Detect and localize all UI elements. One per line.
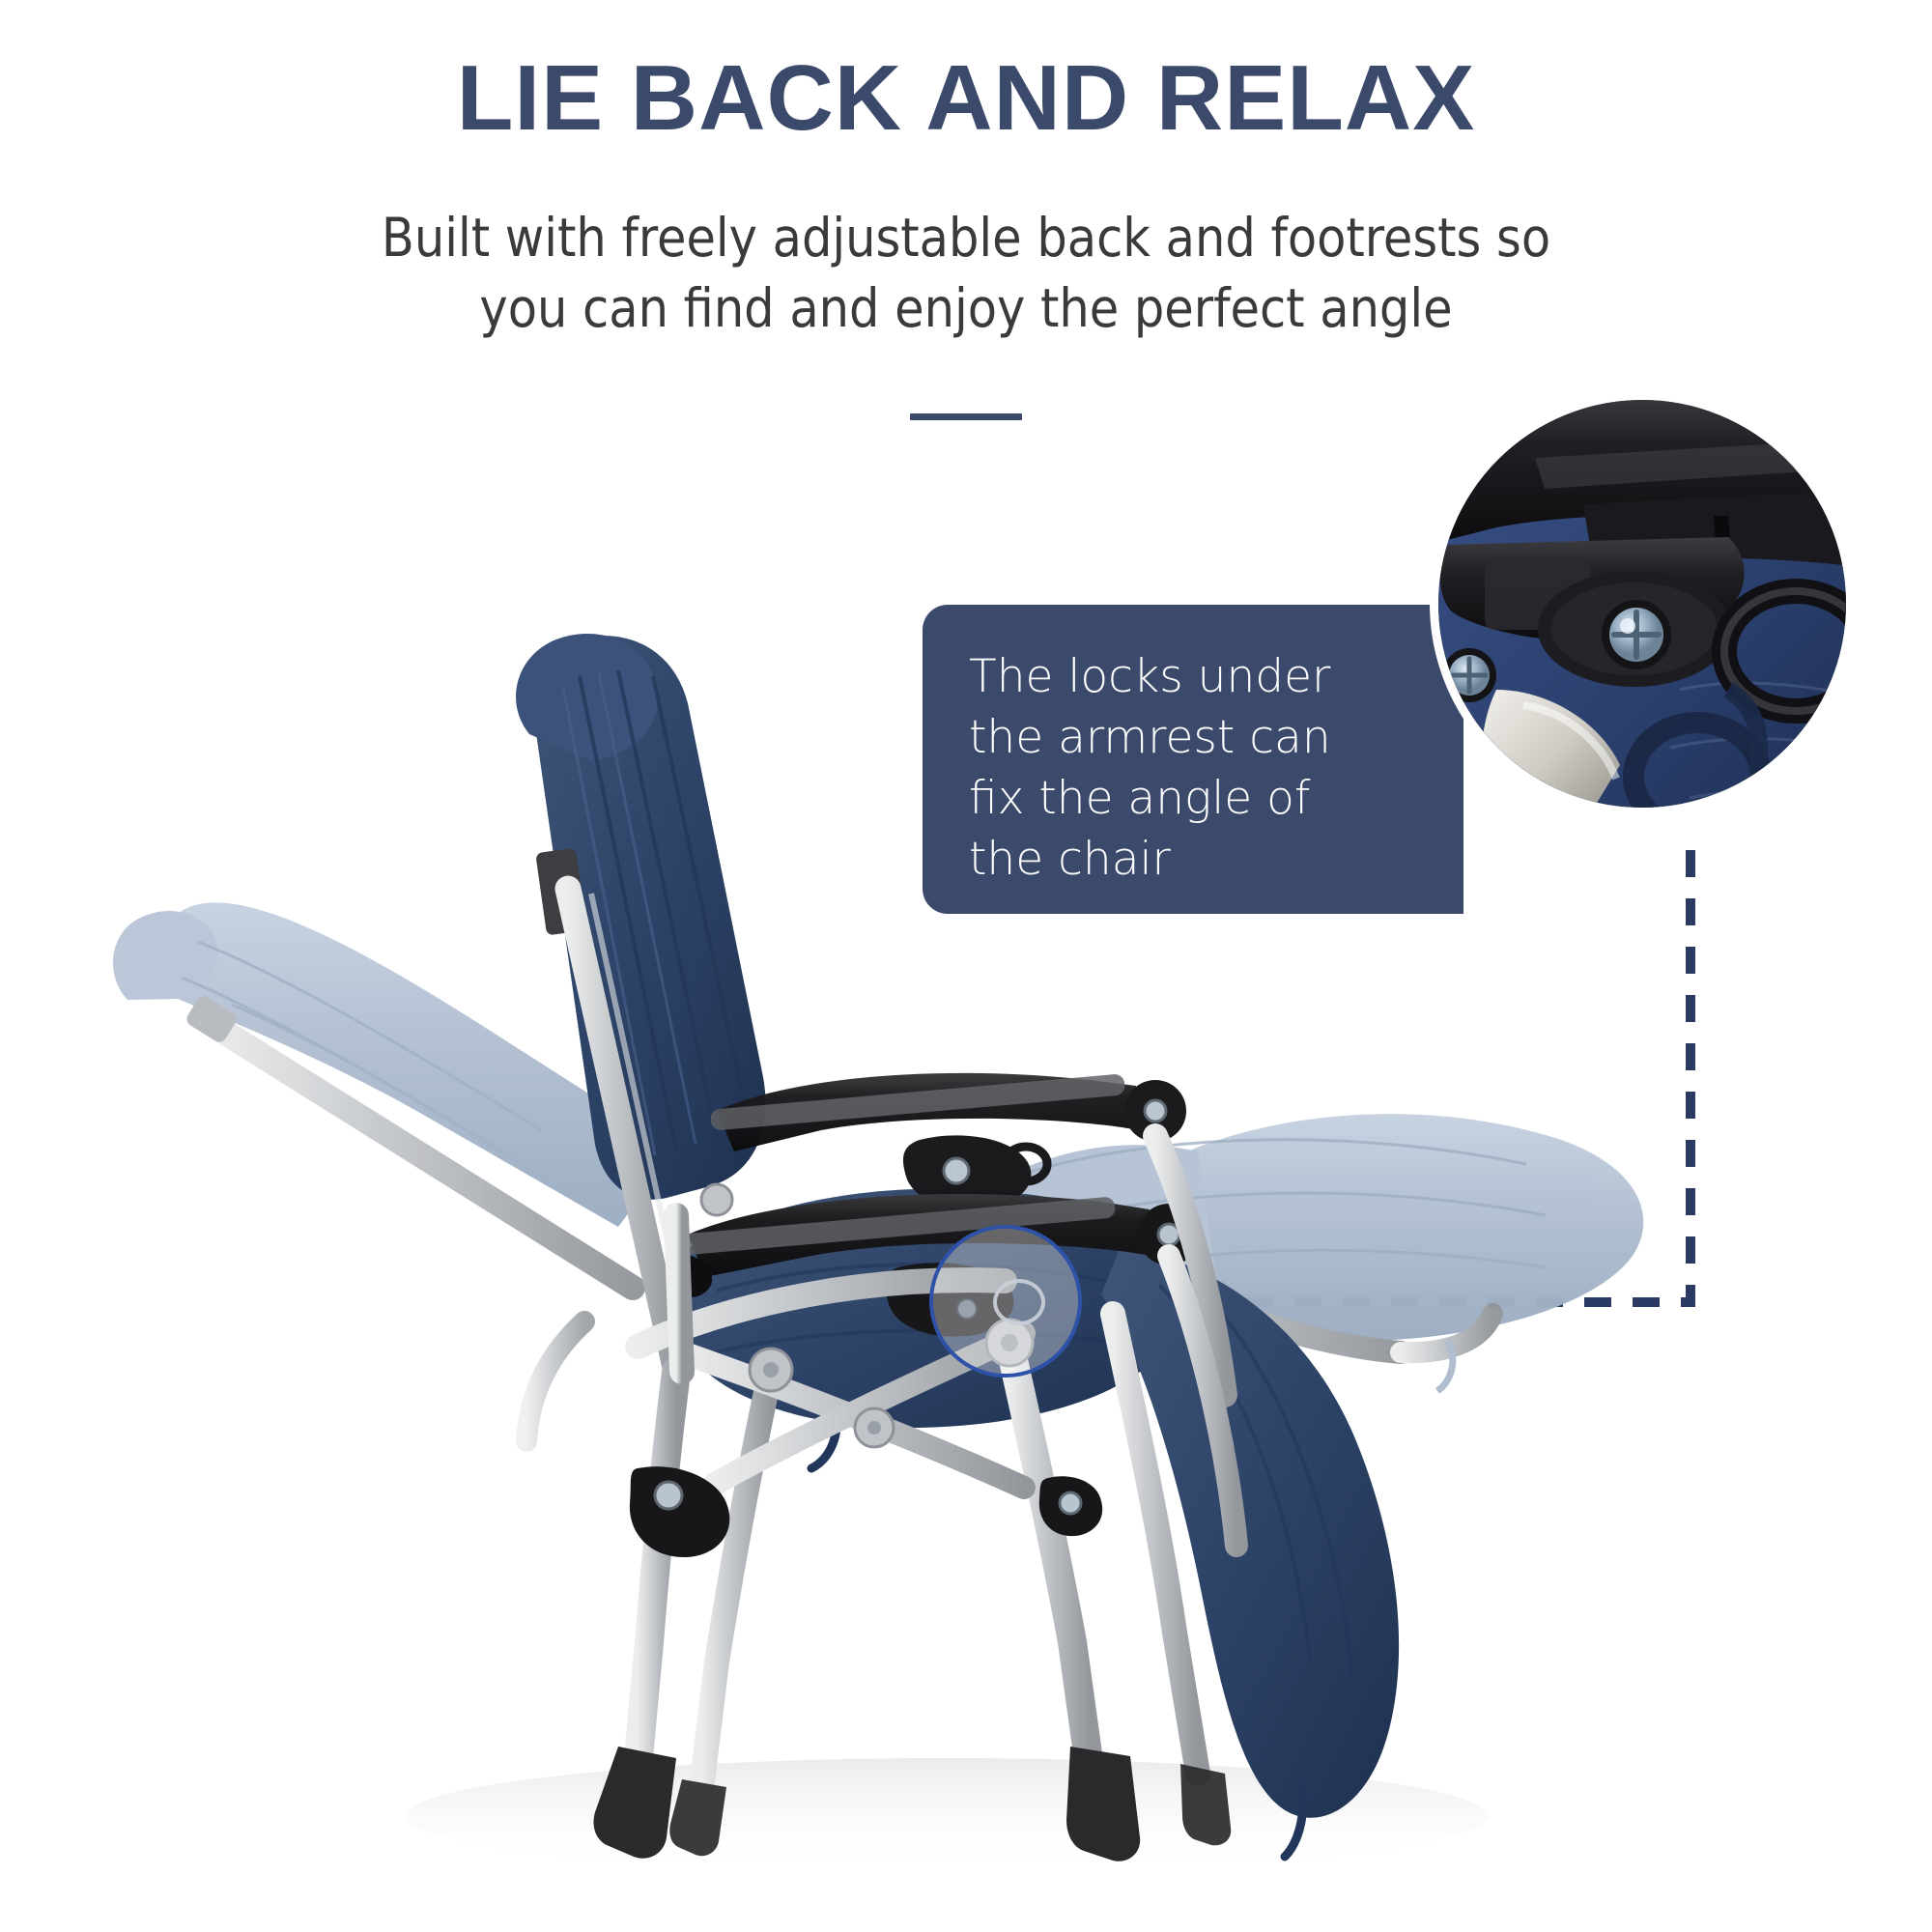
callout-box: The locks under the armrest can fix the … [923,605,1463,914]
detail-inset-circle [1430,391,1855,816]
screw-icon [956,1298,978,1320]
infographic-canvas: LIE BACK AND RELAX Built with freely adj… [0,0,1932,1932]
highlight-spot-marker [929,1225,1082,1378]
cupholder-ring-icon [993,1279,1045,1325]
product-image [0,0,1932,1932]
armrest-lock-closeup-photo [1438,400,1846,808]
